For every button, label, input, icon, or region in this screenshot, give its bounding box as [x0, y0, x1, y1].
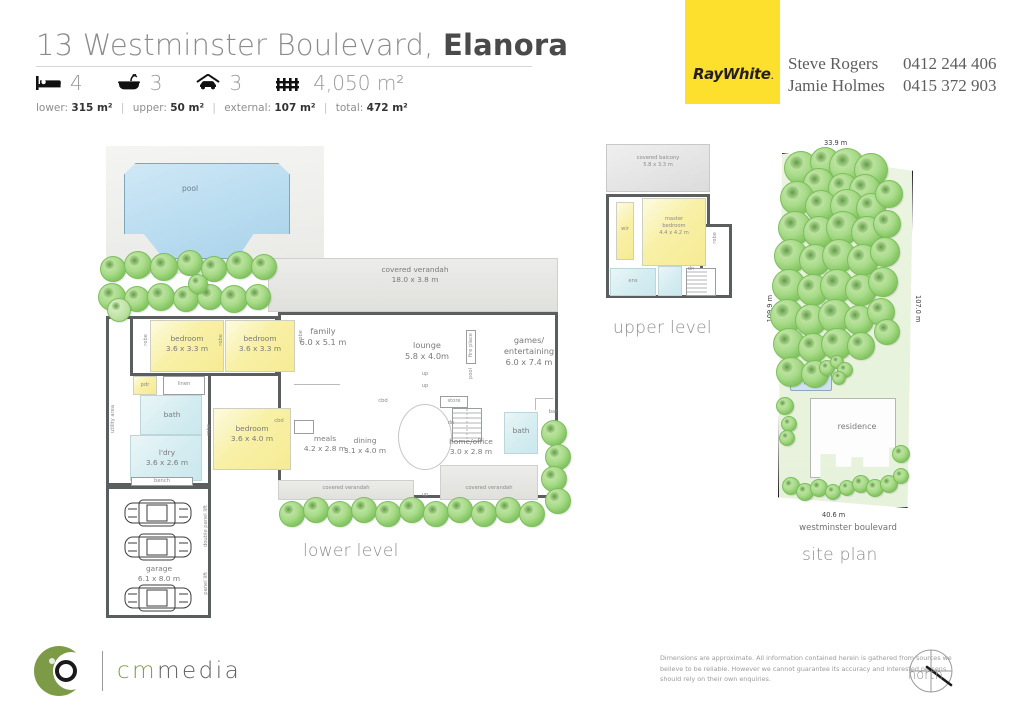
- office-label: home/office 3.0 x 2.8 m: [440, 437, 502, 457]
- agent-name-1: Steve Rogers: [788, 54, 878, 74]
- bar-line-v: [535, 398, 536, 410]
- cupboard-label-1: cbd: [374, 398, 392, 405]
- brand-color-block: [685, 0, 780, 104]
- bar-line-h: [535, 398, 553, 399]
- dn-label: dn: [444, 420, 458, 427]
- raywhite-logo: RayWhite.: [693, 65, 781, 83]
- agency-branding: RayWhite. Steve Rogers Jamie Holmes 0412…: [685, 0, 1024, 104]
- upper-robe-label: robe: [712, 232, 719, 244]
- bar-label: bar: [540, 409, 566, 416]
- bench-label: bench: [131, 478, 193, 485]
- logo-lens-icon: [55, 660, 77, 682]
- bedroom-2-label: bedroom 3.6 x 3.3 m: [226, 334, 294, 354]
- car-3: [124, 583, 192, 617]
- cmmedia-logo-mark: [34, 646, 84, 696]
- agent-phone-1: 0412 244 406: [903, 54, 997, 74]
- site-street-label: westminster boulevard: [768, 523, 928, 534]
- cmmedia-logo: cmmedia: [34, 646, 241, 696]
- master-bedroom-label: master bedroom 4.4 x 4.2 m: [644, 216, 704, 237]
- verandah-top-label: covered verandah 18.0 x 3.8 m: [350, 265, 480, 285]
- upper-dn-label: dn: [684, 266, 698, 273]
- car-2: [124, 532, 192, 566]
- dining-label: dining 3.1 x 4.0 m: [334, 436, 396, 456]
- bedroom-1-label: bedroom 3.6 x 3.3 m: [152, 334, 222, 354]
- lower-level-caption: lower level: [303, 541, 399, 561]
- balcony-label: covered balcony 5.8 x 3.3 m: [608, 155, 708, 169]
- family-label: family 6.0 x 5.1 m: [288, 326, 358, 348]
- verandah-right-label: covered verandah: [442, 485, 536, 492]
- cmmedia-wordmark: cmmedia: [117, 658, 241, 684]
- games-label: games/ entertaining 6.0 x 7.4 m: [494, 335, 564, 368]
- verandah-left-label: covered verandah: [286, 485, 406, 492]
- wir-label: wir: [616, 226, 634, 233]
- robe-label-1: robe: [143, 334, 150, 346]
- car-1: [124, 498, 192, 532]
- up-label-1: up: [418, 383, 432, 390]
- robe-label-4: robe: [206, 424, 213, 436]
- logo-divider: [102, 651, 103, 691]
- bedroom-3-label: bedroom 3.6 x 4.0 m: [215, 424, 289, 444]
- kitchen-counter-line: [294, 384, 340, 385]
- site-dim-top: 33.9 m: [824, 139, 847, 147]
- brand-name: RayWhite: [693, 65, 771, 83]
- logo-text-media: media: [157, 658, 241, 684]
- kitchen-bench: [291, 391, 323, 415]
- logo-text-cm: cm: [117, 658, 157, 684]
- lounge-label: lounge 5.8 x 4.0m: [392, 340, 462, 362]
- upper-level-caption: upper level: [613, 318, 712, 338]
- lower-level-floorplan: pool covered verandah 18.0 x 3.8 m bedro…: [0, 0, 600, 640]
- site-plan: 33.9 m 109.9 m 107.0 m 40.6 m residence …: [760, 135, 960, 555]
- bath-lower-label: bath: [152, 410, 192, 420]
- cupboard-label-2: cbd: [270, 418, 288, 425]
- garage-label: garage 6.1 x 8.0 m: [120, 564, 198, 584]
- up-label-2: up: [418, 371, 432, 378]
- upper-level-floorplan: covered balcony 5.8 x 3.3 m master bedro…: [600, 140, 750, 360]
- double-panel-lift-label: double panel lift: [203, 505, 210, 547]
- up-label-3: up: [418, 492, 432, 499]
- site-dim-left: 109.9 m: [766, 295, 774, 322]
- site-dim-bottom: 40.6 m: [822, 511, 845, 519]
- agent-phone-2: 0415 372 903: [903, 76, 997, 96]
- linen-label: linen: [163, 381, 205, 388]
- site-dim-right: 107.0 m: [914, 295, 922, 322]
- pool-side-label: pool: [468, 368, 475, 379]
- north-label: north: [908, 668, 943, 683]
- robe-label-2: robe: [218, 334, 225, 346]
- logo-dot-icon: [49, 658, 55, 664]
- panel-lift-label: panel lift: [203, 572, 210, 595]
- store-label: store: [440, 398, 468, 405]
- bath-east-label: bath: [504, 426, 538, 436]
- cooktop: [294, 420, 314, 434]
- fireplace-label: fire place: [468, 333, 475, 357]
- covered-verandah-right: [440, 465, 538, 500]
- site-pool-label: pool: [790, 377, 832, 386]
- agent-name-2: Jamie Holmes: [788, 76, 885, 96]
- site-plan-caption: site plan: [802, 545, 878, 565]
- laundry-label: l'dry 3.6 x 2.6 m: [134, 448, 200, 468]
- brand-name-suffix: .: [771, 69, 774, 82]
- site-residence-label: residence: [822, 422, 892, 433]
- powder-label: pdr: [133, 382, 157, 389]
- pool-label: pool: [182, 184, 198, 193]
- room-wc: [658, 266, 682, 296]
- utility-area-label: utility area: [110, 405, 117, 433]
- ens-label: ens: [610, 278, 656, 285]
